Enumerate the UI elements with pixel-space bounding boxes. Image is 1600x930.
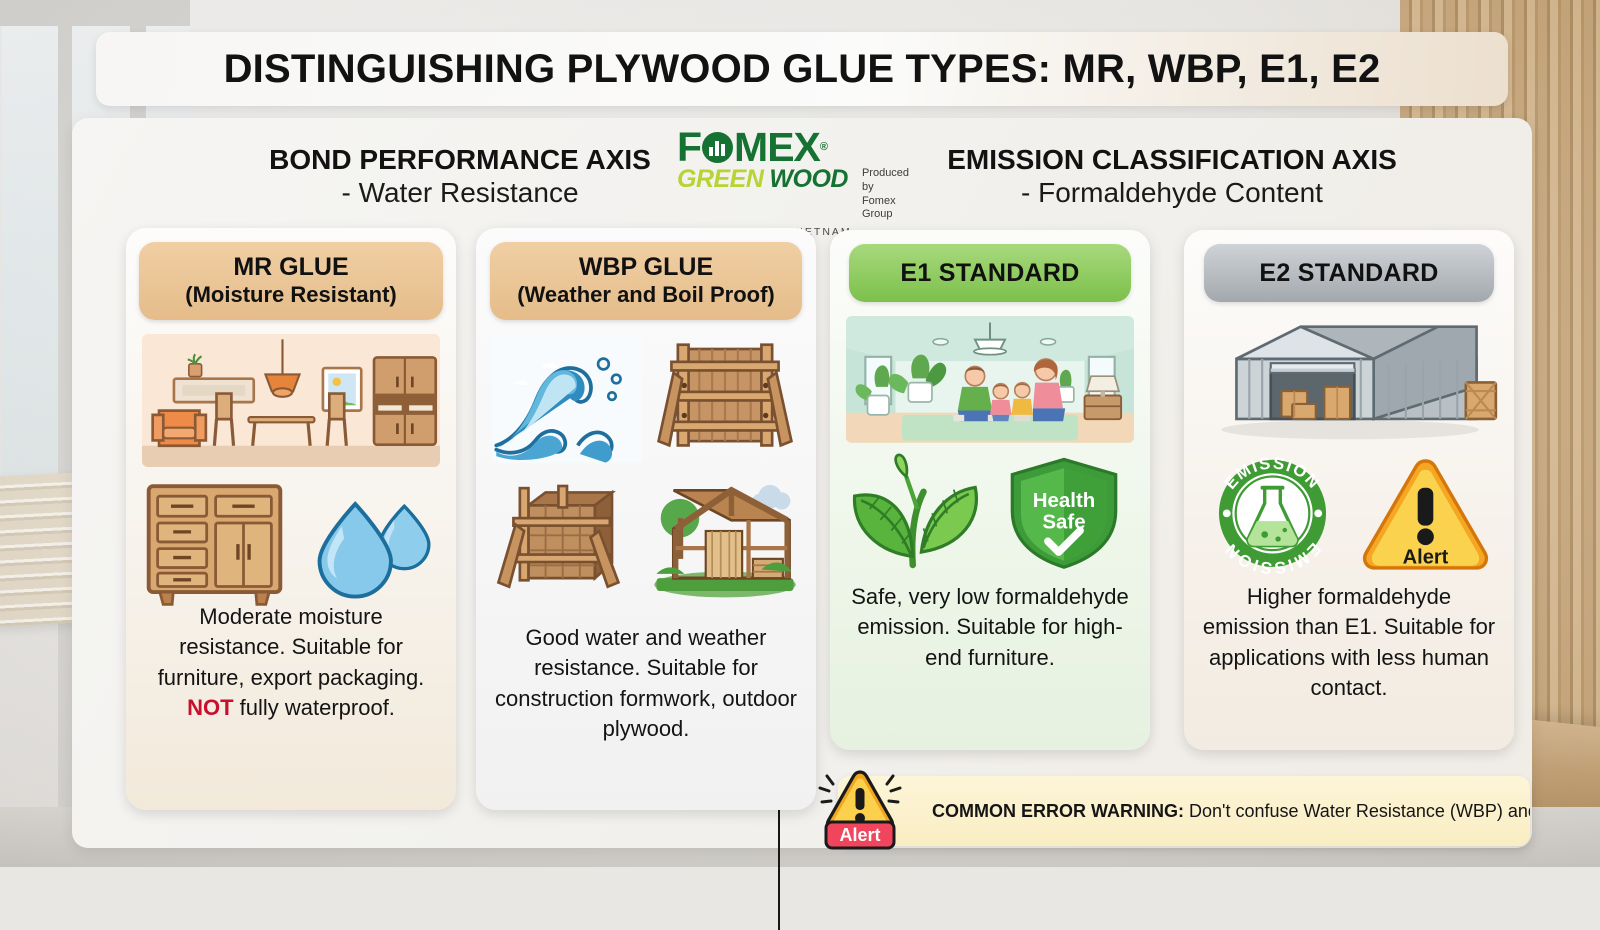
outdoor-timber-house-icon — [650, 471, 800, 600]
card-mr-title: MR GLUE — [233, 254, 348, 282]
logo-letter-f: F — [677, 127, 701, 168]
logo-produced-by: Produced by Fomex Group — [862, 167, 909, 222]
logo-brand-text: FMEX® — [677, 127, 827, 168]
card-e2-description: Higher formaldehyde emission than E1. Su… — [1184, 582, 1514, 703]
card-wbp-header: WBP GLUE (Weather and Boil Proof) — [490, 242, 803, 320]
card-e1-standard[interactable]: E1 STANDARD — [830, 230, 1150, 750]
card-e1-illustrations: Health Safe — [830, 302, 1150, 571]
warehouse-building-icon — [1200, 316, 1498, 442]
living-room-furniture-scene-icon — [142, 334, 440, 467]
green-leaves-icon — [846, 453, 986, 571]
axis-right-line2: - Formaldehyde Content — [862, 175, 1482, 210]
warning-label: COMMON ERROR WARNING: — [932, 801, 1184, 821]
card-mr-text-after: fully waterproof. — [234, 695, 395, 720]
alert-badge-label: Alert — [839, 825, 880, 845]
axis-right-line1: EMISSION CLASSIFICATION AXIS — [862, 144, 1482, 175]
health-safe-shield-icon: Health Safe — [994, 453, 1134, 571]
warning-alert-badge-icon: Alert — [814, 764, 906, 852]
card-mr-description: Moderate moisture resistance. Suitable f… — [126, 602, 456, 723]
ocean-wave-icon — [492, 334, 642, 463]
card-e1-title: E1 STANDARD — [900, 259, 1079, 288]
card-wbp-glue[interactable]: WBP GLUE (Weather and Boil Proof) — [476, 228, 816, 810]
main-panel: BOND PERFORMANCE AXIS - Water Resistance… — [72, 118, 1532, 848]
card-e2-header: E2 STANDARD — [1204, 244, 1494, 302]
logo-letters-mex: MEX — [734, 127, 820, 168]
shield-text-line1: Health — [1033, 489, 1096, 512]
fomex-green-wood-logo: FMEX® GREENWOOD Produced by Fomex Group … — [677, 124, 897, 222]
page-title: DISTINGUISHING PLYWOOD GLUE TYPES: MR, W… — [224, 47, 1381, 92]
logo-wood-word: WOOD — [769, 165, 848, 193]
card-e2-title: E2 STANDARD — [1259, 259, 1438, 288]
card-mr-subtitle: (Moisture Resistant) — [185, 282, 396, 308]
axis-heading-emission-classification: EMISSION CLASSIFICATION AXIS - Formaldeh… — [862, 144, 1482, 210]
axis-left-line2: - Water Resistance — [160, 175, 760, 210]
warning-body: Don't confuse Water Resistance (WBP) and… — [1184, 801, 1530, 821]
card-e2-standard[interactable]: E2 STANDARD — [1184, 230, 1514, 750]
card-mr-header: MR GLUE (Moisture Resistant) — [139, 242, 443, 320]
card-e1-header: E1 STANDARD — [849, 244, 1131, 302]
card-mr-glue[interactable]: MR GLUE (Moisture Resistant) — [126, 228, 456, 810]
wood-formwork-box-icon — [492, 471, 642, 600]
wood-formwork-panel-icon — [650, 334, 800, 463]
logo-greenwood-text: GREENWOOD — [677, 167, 848, 192]
card-wbp-subtitle: (Weather and Boil Proof) — [517, 282, 775, 308]
card-wbp-illustrations — [476, 320, 816, 599]
alert-triangle-icon: Alert — [1353, 452, 1498, 575]
logo-chart-icon — [702, 132, 733, 163]
card-mr-text-before: Moderate moisture resistance. Suitable f… — [158, 604, 425, 690]
water-droplets-icon — [295, 475, 440, 607]
card-e2-illustrations: EMISSION EMISSION Alert — [1184, 302, 1514, 575]
card-mr-text-highlight: NOT — [187, 695, 233, 720]
common-error-warning-banner: COMMON ERROR WARNING: Don't confuse Wate… — [838, 776, 1530, 846]
title-bar: DISTINGUISHING PLYWOOD GLUE TYPES: MR, W… — [96, 32, 1508, 106]
card-wbp-title: WBP GLUE — [579, 254, 713, 282]
dresser-cabinet-icon — [142, 475, 287, 607]
card-wbp-description: Good water and weather resistance. Suita… — [476, 623, 816, 744]
card-e1-description: Safe, very low formaldehyde emission. Su… — [830, 582, 1150, 673]
axis-left-line1: BOND PERFORMANCE AXIS — [160, 144, 760, 175]
produced-line-1: Produced by — [862, 167, 909, 195]
produced-line-2: Fomex Group — [862, 195, 909, 223]
registered-trademark-icon: ® — [820, 142, 827, 153]
warning-text: COMMON ERROR WARNING: Don't confuse Wate… — [932, 799, 1530, 823]
family-living-room-scene-icon — [846, 316, 1134, 443]
alert-triangle-label: Alert — [1403, 547, 1449, 569]
axis-heading-bond-performance: BOND PERFORMANCE AXIS - Water Resistance — [160, 144, 760, 210]
emission-flask-badge-icon: EMISSION EMISSION — [1200, 452, 1345, 575]
card-mr-illustrations — [126, 320, 456, 607]
logo-green-word: GREEN — [677, 165, 763, 193]
